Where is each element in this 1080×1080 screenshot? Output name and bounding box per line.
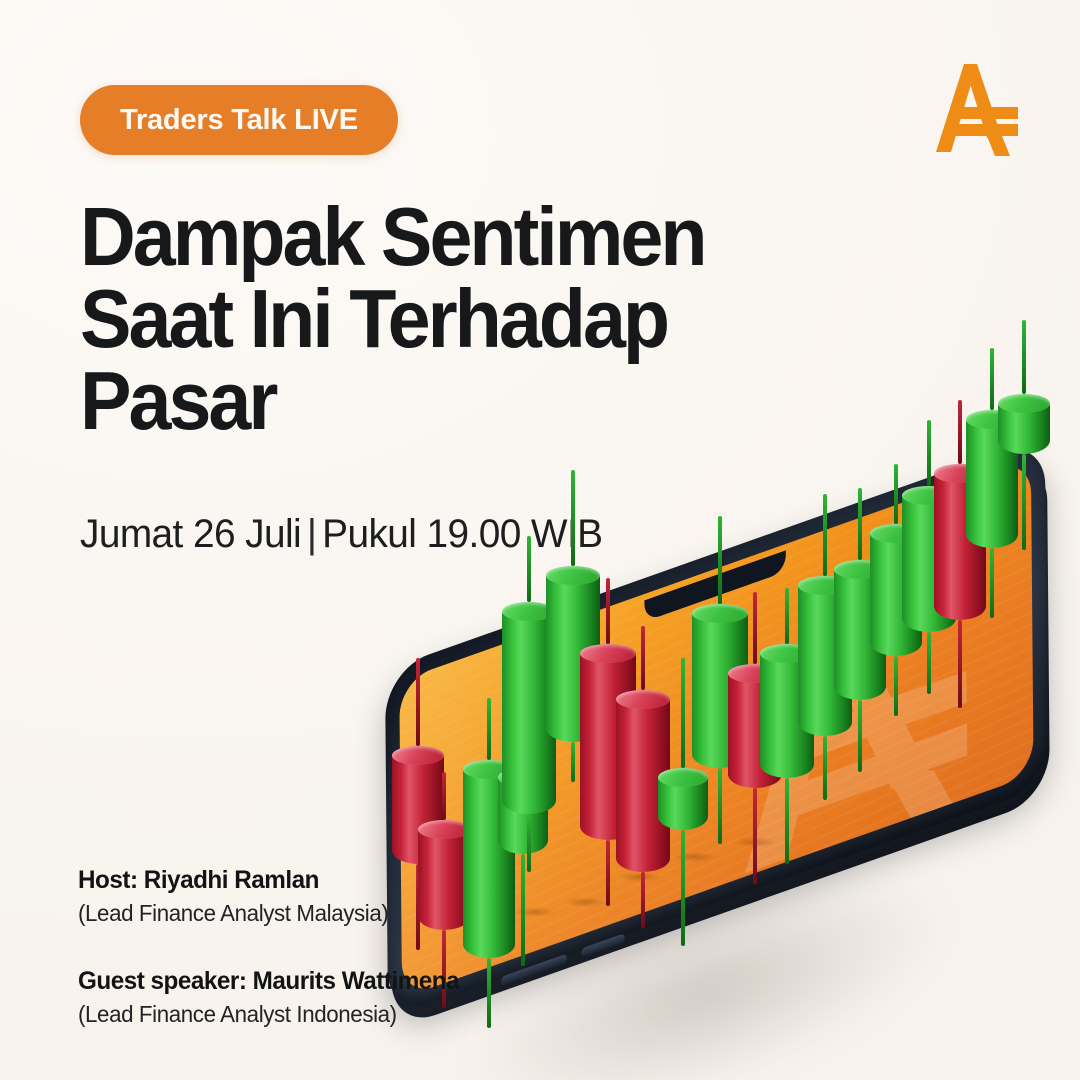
datetime-separator: | <box>301 512 322 556</box>
headline-line-3: Pasar <box>80 360 787 442</box>
live-badge: Traders Talk LIVE <box>80 85 398 155</box>
poster-canvas: Traders Talk LIVE Dampak Sentimen Saat I… <box>0 0 1080 1080</box>
credit-host-role: (Lead Finance Analyst Malaysia) <box>78 900 459 927</box>
logo-a-mark-icon <box>920 52 1030 162</box>
credit-guest-name: Guest speaker: Maurits Wattimena <box>78 967 459 996</box>
speaker-credits: Host: Riyadhi Ramlan (Lead Finance Analy… <box>78 866 471 1028</box>
credit-guest: Guest speaker: Maurits Wattimena (Lead F… <box>78 967 471 1028</box>
headline-line-2: Saat Ini Terhadap <box>80 278 787 360</box>
headline-line-1: Dampak Sentimen <box>80 196 787 278</box>
credit-host-name: Host: Riyadhi Ramlan <box>78 866 459 895</box>
credit-guest-role: (Lead Finance Analyst Indonesia) <box>78 1001 459 1028</box>
page-title: Dampak Sentimen Saat Ini Terhadap Pasar <box>80 196 787 442</box>
credit-host: Host: Riyadhi Ramlan (Lead Finance Analy… <box>78 866 471 927</box>
event-date: Jumat 26 Juli <box>80 512 301 556</box>
